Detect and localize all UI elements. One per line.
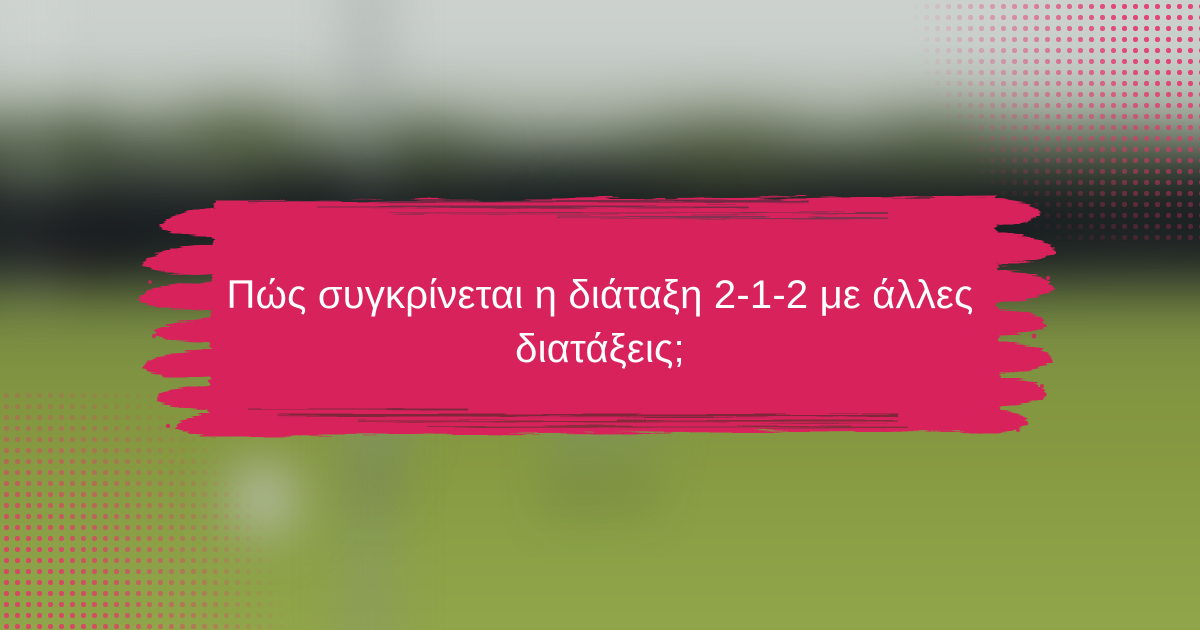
social-card: Πώς συγκρίνεται η διάταξη 2-1-2 με άλλες… [0, 0, 1200, 630]
page-title: Πώς συγκρίνεται η διάταξη 2-1-2 με άλλες… [210, 268, 990, 377]
